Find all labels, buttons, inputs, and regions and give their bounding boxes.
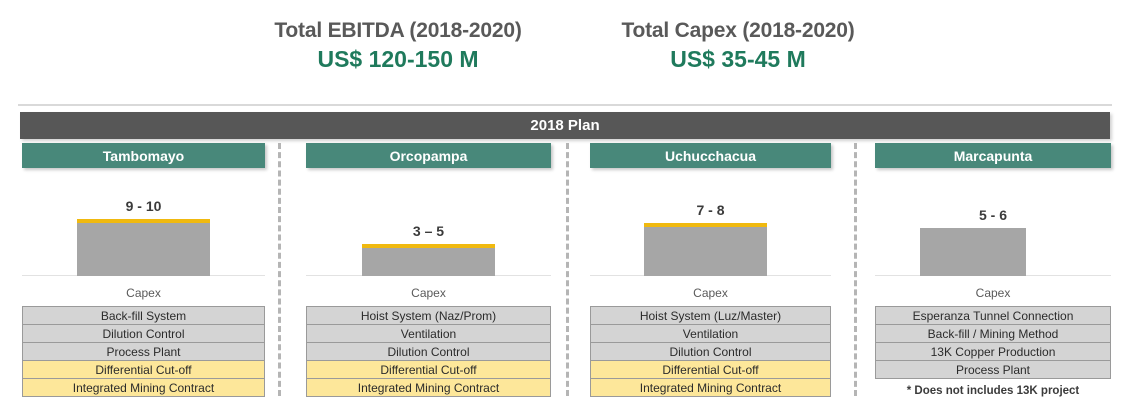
capex-chart-tambomayo: 9 - 10 Capex — [22, 171, 265, 306]
list-item[interactable]: Back-fill System — [23, 307, 264, 325]
list-item[interactable]: Differential Cut-off — [307, 361, 550, 379]
list-item[interactable]: Process Plant — [23, 343, 264, 361]
bar-cap-highlight — [77, 219, 210, 223]
footnote-marcapunta: * Does not includes 13K project — [875, 385, 1111, 397]
list-item[interactable]: Dilution Control — [23, 325, 264, 343]
list-item[interactable]: Differential Cut-off — [23, 361, 264, 379]
column-separator — [854, 143, 857, 396]
list-item[interactable]: Hoist System (Naz/Prom) — [307, 307, 550, 325]
kpi-ebitda-value: US$ 120-150 M — [228, 45, 568, 73]
column-separator — [278, 143, 281, 396]
plan-banner: 2018 Plan — [20, 112, 1110, 139]
list-item[interactable]: Esperanza Tunnel Connection — [876, 307, 1110, 325]
kpi-total-ebitda: Total EBITDA (2018-2020) US$ 120-150 M — [228, 18, 568, 73]
list-item[interactable]: Hoist System (Luz/Master) — [591, 307, 830, 325]
chart-axis-label-capex: Capex — [306, 286, 551, 300]
column-header-tambomayo: Tambomayo — [22, 143, 265, 168]
column-header-marcapunta: Marcapunta — [875, 143, 1111, 168]
column-header-orcopampa: Orcopampa — [306, 143, 551, 168]
list-item[interactable]: Back-fill / Mining Method — [876, 325, 1110, 343]
initiative-list-uchucchacua: Hoist System (Luz/Master) Ventilation Di… — [590, 306, 831, 397]
bar-value-label-tambomayo: 9 - 10 — [22, 198, 265, 214]
chart-axis-label-capex: Capex — [590, 286, 831, 300]
capex-bar-orcopampa — [362, 244, 495, 276]
column-orcopampa: Orcopampa 3 – 5 Capex Hoist System (Naz/… — [306, 143, 551, 401]
column-separator — [566, 143, 569, 396]
chart-axis-label-capex: Capex — [22, 286, 265, 300]
list-item[interactable]: Process Plant — [876, 361, 1110, 379]
bar-value-label-uchucchacua: 7 - 8 — [590, 202, 831, 218]
plan-columns: Tambomayo 9 - 10 Capex Back-fill System … — [0, 143, 1139, 403]
list-item[interactable]: Integrated Mining Contract — [307, 379, 550, 397]
header-divider — [18, 104, 1112, 106]
chart-axis-label-capex: Capex — [875, 286, 1111, 300]
kpi-header-row: Total EBITDA (2018-2020) US$ 120-150 M T… — [0, 18, 1139, 88]
bar-cap-highlight — [644, 223, 767, 227]
column-tambomayo: Tambomayo 9 - 10 Capex Back-fill System … — [22, 143, 265, 401]
list-item[interactable]: Integrated Mining Contract — [23, 379, 264, 397]
column-marcapunta: Marcapunta 5 - 6 Capex Esperanza Tunnel … — [875, 143, 1111, 401]
column-header-uchucchacua: Uchucchacua — [590, 143, 831, 168]
list-item[interactable]: Dilution Control — [307, 343, 550, 361]
bar-cap-highlight — [362, 244, 495, 248]
kpi-total-capex: Total Capex (2018-2020) US$ 35-45 M — [568, 18, 908, 73]
capex-chart-uchucchacua: 7 - 8 Capex — [590, 171, 831, 306]
kpi-ebitda-title: Total EBITDA (2018-2020) — [228, 18, 568, 44]
list-item[interactable]: Integrated Mining Contract — [591, 379, 830, 397]
initiative-list-orcopampa: Hoist System (Naz/Prom) Ventilation Dilu… — [306, 306, 551, 397]
kpi-capex-title: Total Capex (2018-2020) — [568, 18, 908, 44]
capex-chart-marcapunta: 5 - 6 Capex — [875, 171, 1111, 306]
list-item[interactable]: Differential Cut-off — [591, 361, 830, 379]
bar-value-label-orcopampa: 3 – 5 — [306, 223, 551, 239]
initiative-list-tambomayo: Back-fill System Dilution Control Proces… — [22, 306, 265, 397]
capex-bar-uchucchacua — [644, 223, 767, 276]
bar-value-label-marcapunta: 5 - 6 — [875, 207, 1111, 223]
kpi-capex-value: US$ 35-45 M — [568, 45, 908, 73]
initiative-list-marcapunta: Esperanza Tunnel Connection Back-fill / … — [875, 306, 1111, 379]
list-item[interactable]: Ventilation — [307, 325, 550, 343]
capex-bar-marcapunta — [920, 228, 1026, 276]
list-item[interactable]: 13K Copper Production — [876, 343, 1110, 361]
list-item[interactable]: Dilution Control — [591, 343, 830, 361]
capex-chart-orcopampa: 3 – 5 Capex — [306, 171, 551, 306]
capex-bar-tambomayo — [77, 219, 210, 276]
list-item[interactable]: Ventilation — [591, 325, 830, 343]
column-uchucchacua: Uchucchacua 7 - 8 Capex Hoist System (Lu… — [590, 143, 831, 401]
